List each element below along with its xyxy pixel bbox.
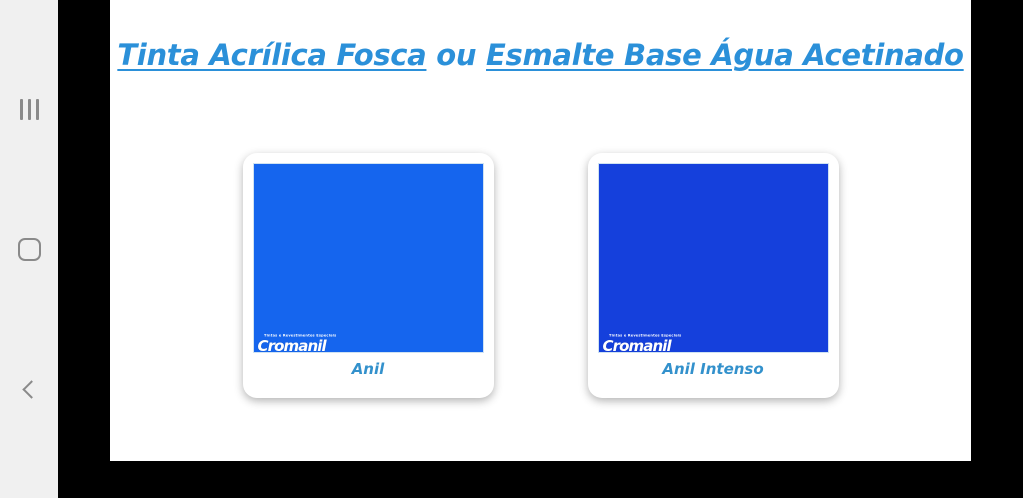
brand-tagline: Tintas e Revestimentos Especiais — [609, 335, 693, 339]
home-button[interactable] — [0, 220, 58, 278]
color-card-list: Tintas e Revestimentos Especiais Cromani… — [110, 153, 971, 398]
brand-name: Cromanil — [258, 339, 326, 353]
brand-logo: Tintas e Revestimentos Especiais Cromani… — [600, 335, 674, 353]
recents-icon — [20, 99, 39, 120]
color-swatch — [599, 164, 828, 352]
home-icon — [18, 238, 41, 261]
color-swatch — [254, 164, 483, 352]
color-card[interactable]: Tintas e Revestimentos Especiais Cromani… — [243, 153, 494, 398]
content-page: Tinta Acrílica Fosca ou Esmalte Base Águ… — [110, 0, 971, 461]
brand-name: Cromanil — [603, 339, 671, 353]
page-title: Tinta Acrílica Fosca ou Esmalte Base Águ… — [110, 38, 971, 72]
page-title-part1: Tinta Acrílica Fosca — [117, 38, 426, 72]
page-title-connector: ou — [426, 38, 486, 72]
recents-button[interactable] — [0, 80, 58, 138]
brand-logo: Tintas e Revestimentos Especiais Cromani… — [255, 335, 329, 353]
color-name-label: Anil — [243, 360, 494, 378]
color-card[interactable]: Tintas e Revestimentos Especiais Cromani… — [588, 153, 839, 398]
back-button[interactable] — [0, 360, 58, 418]
color-swatch-frame: Tintas e Revestimentos Especiais Cromani… — [598, 163, 829, 353]
back-icon — [22, 380, 40, 398]
color-swatch-frame: Tintas e Revestimentos Especiais Cromani… — [253, 163, 484, 353]
color-name-label: Anil Intenso — [588, 360, 839, 378]
android-navigation-bar — [0, 0, 58, 498]
page-title-part2: Esmalte Base Água Acetinado — [486, 38, 964, 72]
brand-tagline: Tintas e Revestimentos Especiais — [264, 335, 348, 339]
